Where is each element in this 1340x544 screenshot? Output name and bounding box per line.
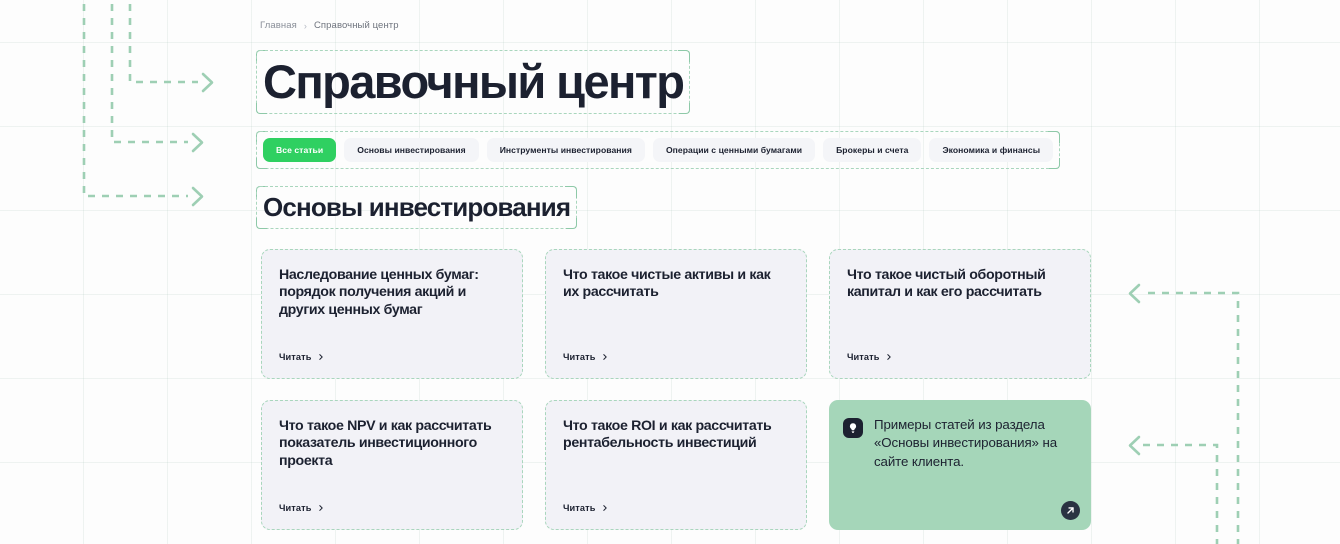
main-content: Главная › Справочный центр Справочный це… <box>260 0 1090 530</box>
article-card-title: Что такое ROI и как рассчитать рентабель… <box>563 418 789 453</box>
callout-text: Примеры статей из раздела «Основы инвест… <box>874 416 1073 471</box>
read-more-label: Читать <box>279 503 311 513</box>
tabs-selection-box: Все статьиОсновы инвестированияИнструмен… <box>263 138 1053 163</box>
breadcrumb-home-link[interactable]: Главная <box>260 20 297 31</box>
page-title: Справочный центр <box>263 57 683 107</box>
read-more-link[interactable]: Читать <box>847 352 892 362</box>
chevron-right-icon <box>886 354 892 360</box>
left-dashed-arrows-decoration <box>0 0 260 230</box>
category-tabs: Все статьиОсновы инвестированияИнструмен… <box>263 138 1053 163</box>
article-card[interactable]: Что такое NPV и как рассчитать показател… <box>261 400 523 530</box>
open-link-button[interactable] <box>1061 501 1080 520</box>
read-more-label: Читать <box>563 352 595 362</box>
tab-2[interactable]: Инструменты инвестирования <box>487 138 645 163</box>
chevron-right-icon <box>602 505 608 511</box>
section-heading-container: Основы инвестирования <box>263 193 1090 222</box>
read-more-link[interactable]: Читать <box>563 352 608 362</box>
article-card[interactable]: Что такое ROI и как рассчитать рентабель… <box>545 400 807 530</box>
article-card[interactable]: Что такое чистые активы и как их рассчит… <box>545 249 807 379</box>
tab-1[interactable]: Основы инвестирования <box>344 138 478 163</box>
read-more-label: Читать <box>279 352 311 362</box>
page-root: Главная › Справочный центр Справочный це… <box>0 0 1340 544</box>
lightbulb-icon <box>843 418 863 438</box>
tab-4[interactable]: Брокеры и счета <box>823 138 921 163</box>
article-card[interactable]: Наследование ценных бумаг: порядок получ… <box>261 249 523 379</box>
read-more-link[interactable]: Читать <box>563 503 608 513</box>
tab-3[interactable]: Операции с ценными бумагами <box>653 138 815 163</box>
section-selection-box: Основы инвестирования <box>263 193 570 222</box>
read-more-label: Читать <box>563 503 595 513</box>
category-tabs-container: Все статьиОсновы инвестированияИнструмен… <box>263 138 1090 163</box>
article-card-title: Что такое чистый оборотный капитал и как… <box>847 267 1073 302</box>
section-title: Основы инвестирования <box>263 193 570 222</box>
read-more-link[interactable]: Читать <box>279 503 324 513</box>
article-card-title: Что такое NPV и как рассчитать показател… <box>279 418 505 470</box>
tab-0[interactable]: Все статьи <box>263 138 336 163</box>
article-card-title: Что такое чистые активы и как их рассчит… <box>563 267 789 302</box>
read-more-label: Читать <box>847 352 879 362</box>
chevron-right-icon <box>602 354 608 360</box>
read-more-link[interactable]: Читать <box>279 352 324 362</box>
page-title-container: Справочный центр <box>263 57 1090 107</box>
chevron-right-icon <box>318 354 324 360</box>
page-title-selection-box: Справочный центр <box>263 57 683 107</box>
breadcrumb-current: Справочный центр <box>314 20 399 31</box>
chevron-right-icon: › <box>304 21 307 31</box>
chevron-right-icon <box>318 505 324 511</box>
breadcrumb: Главная › Справочный центр <box>260 0 1090 31</box>
right-dashed-arrows-decoration <box>1120 270 1340 544</box>
article-card-title: Наследование ценных бумаг: порядок получ… <box>279 267 505 319</box>
annotation-callout: Примеры статей из раздела «Основы инвест… <box>829 400 1091 530</box>
article-card-grid: Наследование ценных бумаг: порядок получ… <box>261 249 1090 530</box>
article-card[interactable]: Что такое чистый оборотный капитал и как… <box>829 249 1091 379</box>
tab-5[interactable]: Экономика и финансы <box>929 138 1053 163</box>
